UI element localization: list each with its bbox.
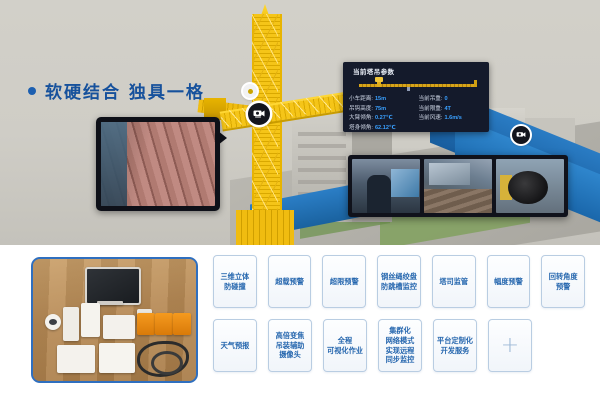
param-row: 当前吊重: 0: [419, 94, 484, 102]
feature-tag[interactable]: 平台定制化开发服务: [433, 319, 477, 372]
param-row: 当前风速: 1.6m/s: [419, 113, 484, 121]
feature-tag[interactable]: 钢丝绳绞盘防跳槽监控: [377, 255, 421, 308]
crane-parameter-panel: 当前塔吊参数 小车距离: 15m 吊钩高度: 75m: [343, 62, 489, 132]
param-value: 0: [444, 96, 447, 102]
equipment-dome-camera: [45, 314, 61, 330]
equipment-monitor-stand: [97, 301, 123, 305]
add-feature-button[interactable]: +: [488, 319, 532, 372]
crane-base: [236, 210, 294, 245]
param-label: 小车距离:: [349, 94, 373, 102]
param-label: 当前吊重:: [419, 94, 443, 102]
bottom-section: 三维立体防碰撞 超载预警 超限预警 钢丝绳绞盘防跳槽监控 塔司监管 幅度预警 回…: [0, 245, 600, 400]
param-row: 当前限重: 4T: [419, 104, 484, 112]
feature-tag[interactable]: 全程可视化作业: [323, 319, 367, 372]
feature-tag[interactable]: 幅度预警: [487, 255, 531, 308]
hero-scene: 当前塔吊参数 小车距离: 15m 吊钩高度: 75m: [0, 0, 600, 245]
feature-tag-grid: 三维立体防碰撞 超载预警 超限预警 钢丝绳绞盘防跳槽监控 塔司监管 幅度预警 回…: [213, 255, 585, 383]
aerial-site-photo-image: [101, 122, 215, 206]
param-label: 当前限重:: [419, 104, 443, 112]
param-label: 吊钩高度:: [349, 104, 373, 112]
camera-feed-site-aerial[interactable]: [424, 159, 492, 213]
equipment-sensor-1: [137, 313, 155, 335]
equipment-box-6: [99, 343, 135, 373]
param-value: 1.6m/s: [444, 115, 461, 121]
page-title: 软硬结合 独具一格: [28, 78, 205, 103]
crane-parameter-rows: 小车距离: 15m 吊钩高度: 75m 大臂倾角: 0.27℃ 塔身倾角: 62…: [349, 94, 483, 132]
equipment-photo: [31, 257, 198, 383]
title-bullet-icon: [28, 87, 36, 95]
feature-tag[interactable]: 超载预警: [268, 255, 312, 308]
param-value: 62.12℃: [375, 125, 396, 131]
schematic-jib-end: [474, 80, 477, 87]
camera-feed-strip: [348, 155, 568, 217]
feature-tag[interactable]: 天气预报: [213, 319, 257, 372]
param-value: 15m: [375, 96, 386, 102]
feature-tag[interactable]: 三维立体防碰撞: [213, 255, 257, 308]
camera-icon[interactable]: [248, 103, 270, 125]
equipment-cable-coil-2: [151, 351, 183, 375]
equipment-box-5: [57, 345, 95, 373]
equipment-box-1: [63, 307, 79, 341]
equipment-monitor: [85, 267, 141, 305]
crane-parameter-column-left: 小车距离: 15m 吊钩高度: 75m 大臂倾角: 0.27℃ 塔身倾角: 62…: [349, 94, 414, 132]
param-value: 4T: [444, 106, 451, 112]
schematic-hook: [407, 87, 410, 91]
feature-tag[interactable]: 超限预警: [322, 255, 366, 308]
param-row: 小车距离: 15m: [349, 94, 414, 102]
param-row: 吊钩高度: 75m: [349, 104, 414, 112]
feature-tag[interactable]: 集群化网络模式实现远程同步监控: [378, 319, 422, 372]
param-value: 0.27℃: [375, 115, 393, 121]
feature-tag[interactable]: 回转角度预警: [541, 255, 585, 308]
camera-icon-secondary[interactable]: [512, 126, 530, 144]
equipment-sensor-2: [155, 313, 173, 335]
camera-feed-winch-cable[interactable]: [496, 159, 564, 213]
feature-tag-row-1: 三维立体防碰撞 超载预警 超限预警 钢丝绳绞盘防跳槽监控 塔司监管 幅度预警 回…: [213, 255, 585, 308]
equipment-box-3: [103, 315, 135, 339]
crane-parameter-column-right: 当前吊重: 0 当前限重: 4T 当前风速: 1.6m/s: [419, 94, 484, 132]
aerial-site-photo: [96, 117, 220, 211]
camera-feed-operator-cabin[interactable]: [352, 159, 420, 213]
camera-glyph: [253, 109, 265, 119]
camera-glyph-2: [516, 131, 526, 139]
param-label: 大臂倾角:: [349, 113, 373, 121]
equipment-photo-image: [33, 259, 196, 381]
equipment-sensor-3: [173, 313, 191, 335]
param-row: 塔身倾角: 62.12℃: [349, 123, 414, 131]
slide-canvas: 当前塔吊参数 小车距离: 15m 吊钩高度: 75m: [0, 0, 600, 400]
param-label: 当前风速:: [419, 113, 443, 121]
equipment-box-2: [81, 303, 100, 337]
crane-parameter-title: 当前塔吊参数: [353, 66, 483, 76]
feature-tag[interactable]: 高倍变焦吊装辅助摄像头: [268, 319, 312, 372]
feature-tag[interactable]: 塔司监管: [432, 255, 476, 308]
param-label: 塔身倾角:: [349, 123, 373, 131]
crane-schematic: [351, 78, 481, 91]
title-text: 软硬结合 独具一格: [45, 78, 205, 103]
param-value: 75m: [375, 106, 386, 112]
sensor-node-icon[interactable]: [243, 84, 257, 98]
schematic-cab: [375, 77, 383, 82]
param-row: 大臂倾角: 0.27℃: [349, 113, 414, 121]
feature-tag-row-2: 天气预报 高倍变焦吊装辅助摄像头 全程可视化作业 集群化网络模式实现远程同步监控…: [213, 319, 585, 372]
aerial-photo-edge: [101, 122, 127, 206]
